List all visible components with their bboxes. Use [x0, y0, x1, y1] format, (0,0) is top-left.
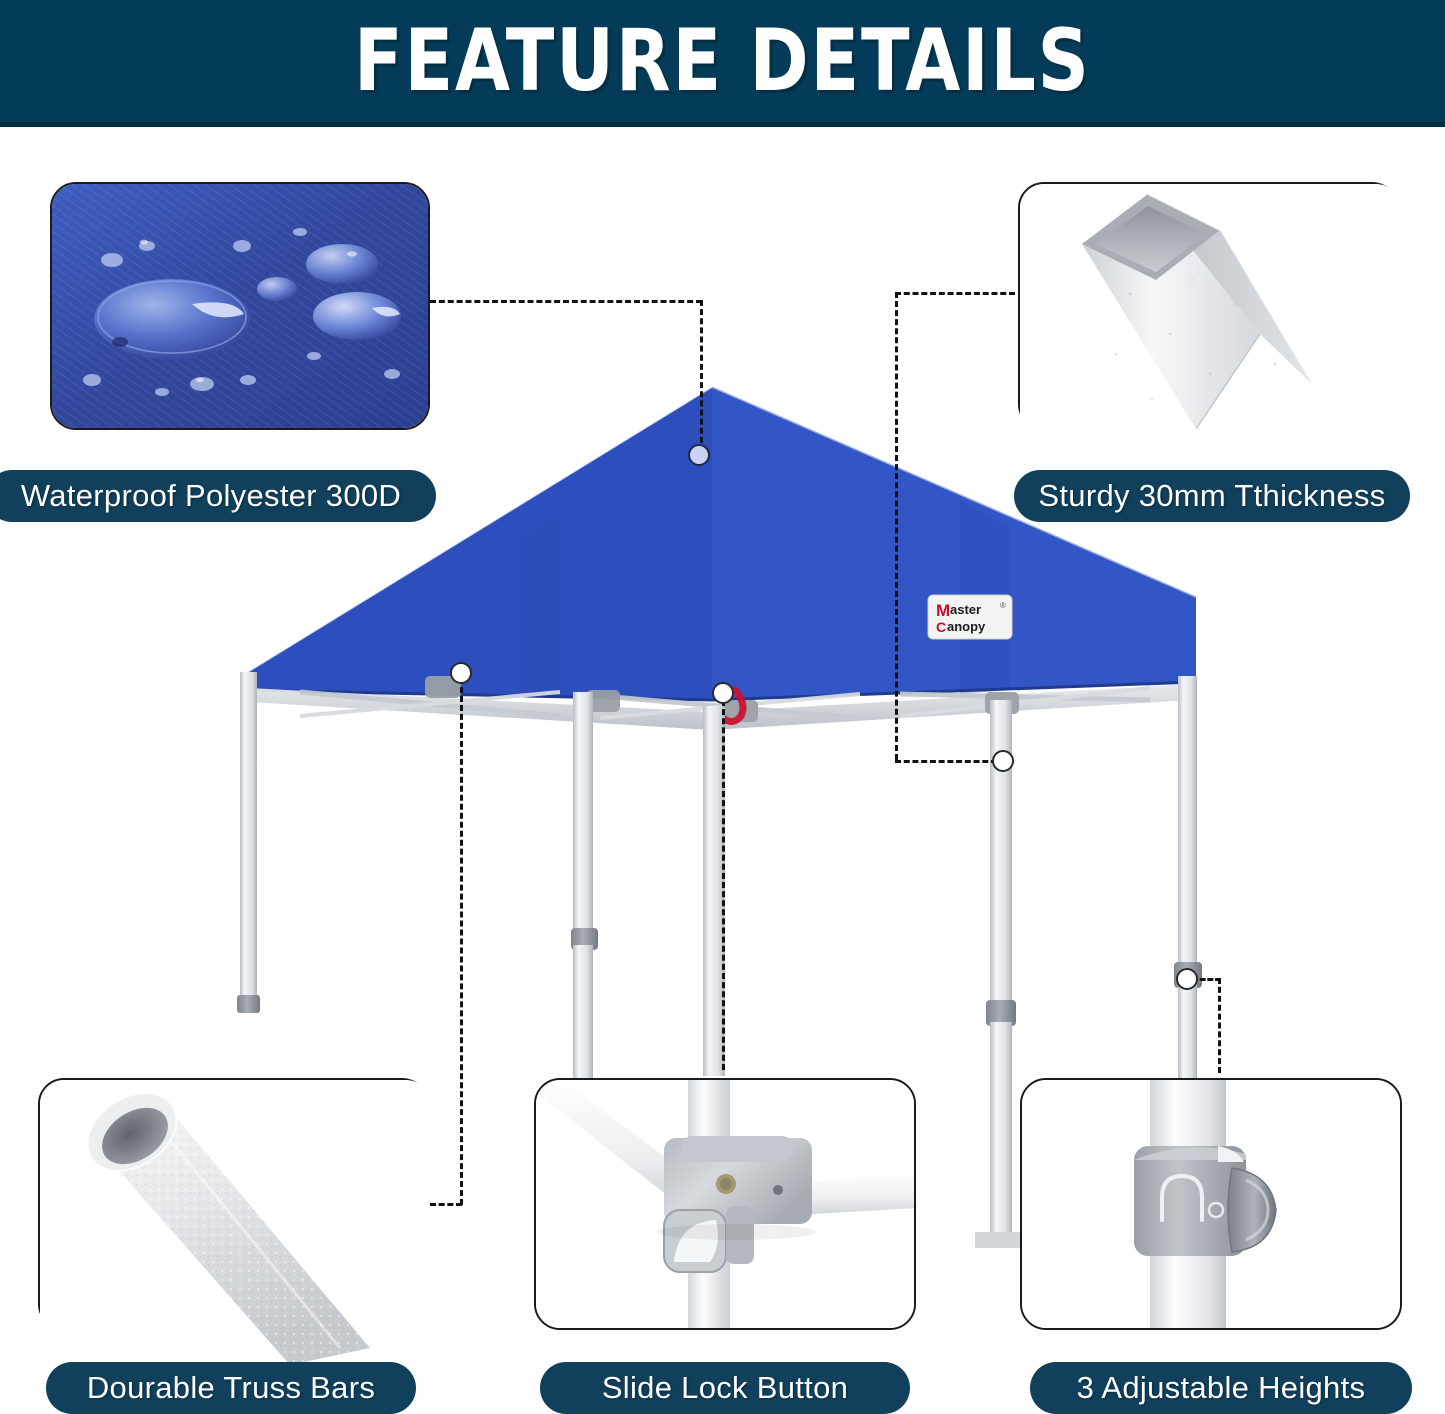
svg-text:®: ®: [1000, 601, 1006, 610]
waterproof-polyester-photo-frame: [50, 182, 430, 430]
truss-hub-connector-photo: [536, 1080, 916, 1330]
svg-text:aster: aster: [950, 602, 981, 617]
leader-line-truss-h: [430, 1203, 462, 1206]
leader-line-waterproof-v: [700, 300, 703, 452]
sturdy-thickness-photo-frame: [1018, 182, 1398, 430]
callout-marker-heights: [1176, 968, 1198, 990]
height-adjustment-collar-photo: [1022, 1080, 1402, 1330]
water-droplets-on-fabric-photo: [52, 184, 430, 430]
durable-truss-bars-photo-frame: [38, 1078, 428, 1330]
square-steel-tube-photo: [1020, 184, 1400, 454]
callout-marker-thickness: [992, 750, 1014, 772]
leader-line-heights-v: [1218, 978, 1221, 1073]
leader-line-lock-v: [722, 700, 725, 1070]
label-slide-lock-button: Slide Lock Button: [540, 1362, 910, 1414]
callout-marker-truss: [450, 662, 472, 684]
callout-marker-waterproof: [688, 444, 710, 466]
label-waterproof-polyester: Waterproof Polyester 300D: [0, 470, 436, 522]
adjustable-heights-photo-frame: [1020, 1078, 1402, 1330]
label-adjustable-heights: 3 Adjustable Heights: [1030, 1362, 1412, 1414]
leader-line-truss-v: [460, 678, 463, 1205]
svg-text:M: M: [936, 601, 950, 620]
slide-lock-button-photo-frame: [534, 1078, 916, 1330]
brand-logo-patch: M aster C anopy ®: [928, 595, 1012, 639]
leader-line-thickness-h2: [895, 760, 997, 763]
leader-line-waterproof-h: [430, 300, 702, 303]
label-sturdy-thickness: Sturdy 30mm Tthickness: [1014, 470, 1410, 522]
svg-text:anopy: anopy: [947, 619, 986, 634]
leader-line-thickness-h: [895, 292, 1015, 295]
leader-line-thickness-v: [895, 292, 898, 760]
infographic-canvas: FEATURE DETAILS: [0, 0, 1445, 1414]
callout-marker-lock: [712, 682, 734, 704]
svg-text:C: C: [936, 619, 946, 635]
oval-truss-bar-tube-photo: [40, 1080, 430, 1365]
label-durable-truss-bars: Dourable Truss Bars: [46, 1362, 416, 1414]
